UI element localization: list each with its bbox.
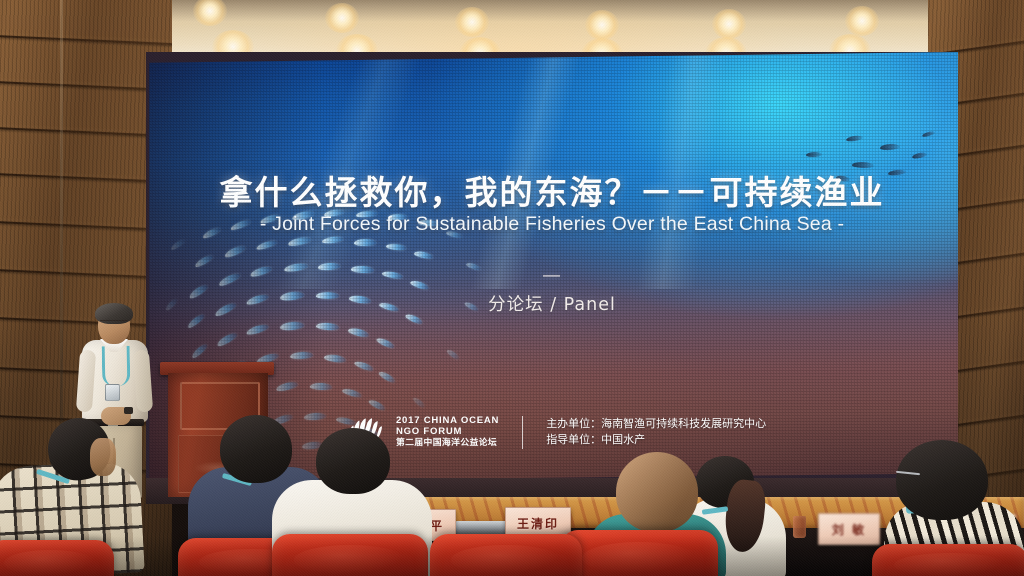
audience-head [896, 440, 988, 520]
presenter-lanyard [102, 346, 131, 386]
screen-session-label: 分论坛 / Panel [146, 291, 958, 316]
presenter-wristwatch [124, 407, 133, 414]
audience-face-side [90, 438, 116, 476]
screen-separator: — [146, 265, 958, 285]
host-organization: 主办单位：海南智渔可持续科技发展研究中心 [546, 416, 766, 433]
screen-title-english: - Joint Forces for Sustainable Fisheries… [146, 213, 958, 236]
presenter-arm-right [133, 350, 153, 413]
audience-chair [430, 534, 582, 576]
audience-chair [560, 530, 718, 576]
audience-head [316, 428, 390, 494]
presenter-glasses [100, 320, 128, 327]
nameplate: 刘 敏 [818, 513, 880, 545]
audience-chair [872, 544, 1024, 576]
organizer-block: 主办单位：海南智渔可持续科技发展研究中心 指导单位：中国水产 [546, 416, 766, 449]
logo-divider [522, 416, 523, 449]
presenter-badge [105, 384, 120, 401]
audience-chair [272, 534, 428, 576]
audience-head-shading [616, 452, 698, 532]
conference-photo: 拿什么拯救你，我的东海？－－可持续渔业 - Joint Forces for S… [0, 0, 1024, 576]
audience-chair [0, 540, 114, 576]
guidance-organization: 指导单位：中国水产 [546, 432, 766, 449]
screen-title-chinese: 拿什么拯救你，我的东海？－－可持续渔业 [146, 166, 958, 214]
